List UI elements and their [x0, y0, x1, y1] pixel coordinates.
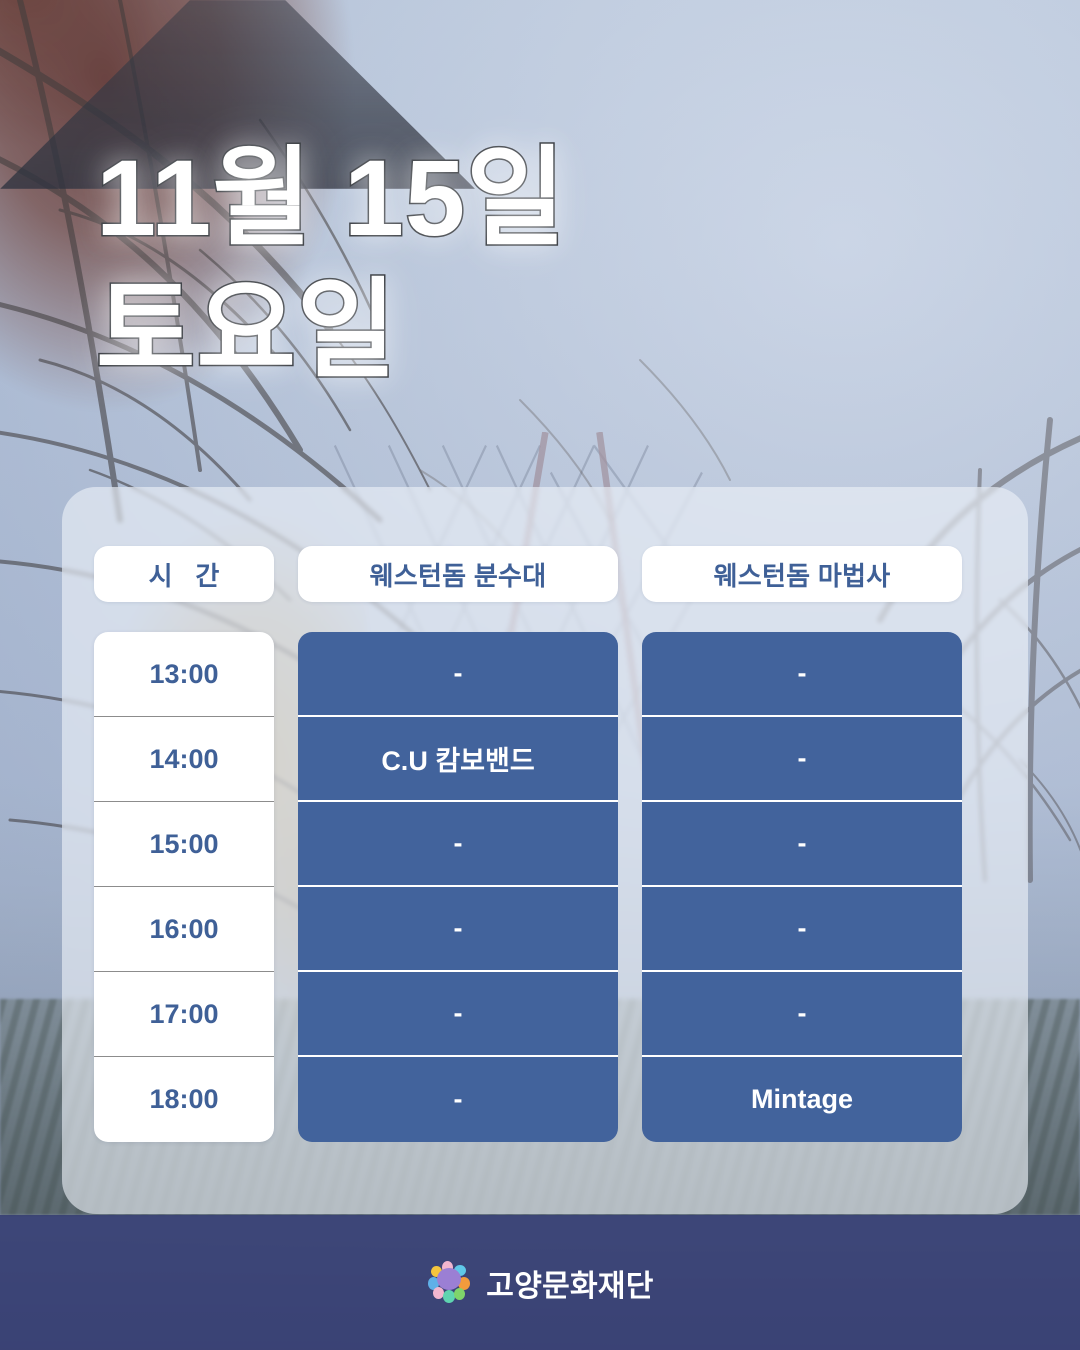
- table-row-time: 17:00: [94, 972, 274, 1057]
- table-cell-venue-2: -: [642, 972, 962, 1057]
- schedule-column-venue-1: 웨스턴돔 분수대 - C.U 캄보밴드 - - - -: [298, 546, 618, 1142]
- table-cell-venue-1: C.U 캄보밴드: [298, 717, 618, 802]
- schedule-table: 시 간 13:00 14:00 15:00 16:00 17:00 18:00 …: [94, 546, 986, 1142]
- table-row-time: 13:00: [94, 632, 274, 717]
- column-gap: [618, 546, 642, 1142]
- table-cell-venue-2: -: [642, 802, 962, 887]
- footer-branding: 고양문화재단: [0, 1215, 1080, 1350]
- title-line-weekday: 토요일: [96, 264, 567, 396]
- table-cell-venue-1: -: [298, 1057, 618, 1142]
- table-cell-venue-1: -: [298, 802, 618, 887]
- table-cell-venue-2: -: [642, 632, 962, 717]
- flower-petals-logo-icon: [426, 1260, 472, 1306]
- poster-canvas: 11월 15일 토요일 시 간 13:00 14:00 15:00 16:00 …: [0, 0, 1080, 1350]
- poster-title: 11월 15일 토요일: [96, 132, 567, 396]
- venue-2-cells-block: - - - - - Mintage: [642, 632, 962, 1142]
- column-header-time: 시 간: [94, 546, 274, 602]
- table-row-time: 14:00: [94, 717, 274, 802]
- table-cell-venue-2: -: [642, 887, 962, 972]
- table-cell-venue-2: Mintage: [642, 1057, 962, 1142]
- schedule-column-venue-2: 웨스턴돔 마법사 - - - - - Mintage: [642, 546, 962, 1142]
- table-cell-venue-2: -: [642, 717, 962, 802]
- column-header-venue-1: 웨스턴돔 분수대: [298, 546, 618, 602]
- column-gap: [274, 546, 298, 1142]
- title-line-date: 11월 15일: [96, 132, 567, 264]
- time-cells-block: 13:00 14:00 15:00 16:00 17:00 18:00: [94, 632, 274, 1142]
- table-cell-venue-1: -: [298, 632, 618, 717]
- schedule-column-time: 시 간 13:00 14:00 15:00 16:00 17:00 18:00: [94, 546, 274, 1142]
- table-row-time: 16:00: [94, 887, 274, 972]
- table-cell-venue-1: -: [298, 887, 618, 972]
- venue-1-cells-block: - C.U 캄보밴드 - - - -: [298, 632, 618, 1142]
- table-cell-venue-1: -: [298, 972, 618, 1057]
- organization-name: 고양문화재단: [486, 1261, 653, 1305]
- table-row-time: 18:00: [94, 1057, 274, 1142]
- column-header-venue-2: 웨스턴돔 마법사: [642, 546, 962, 602]
- table-row-time: 15:00: [94, 802, 274, 887]
